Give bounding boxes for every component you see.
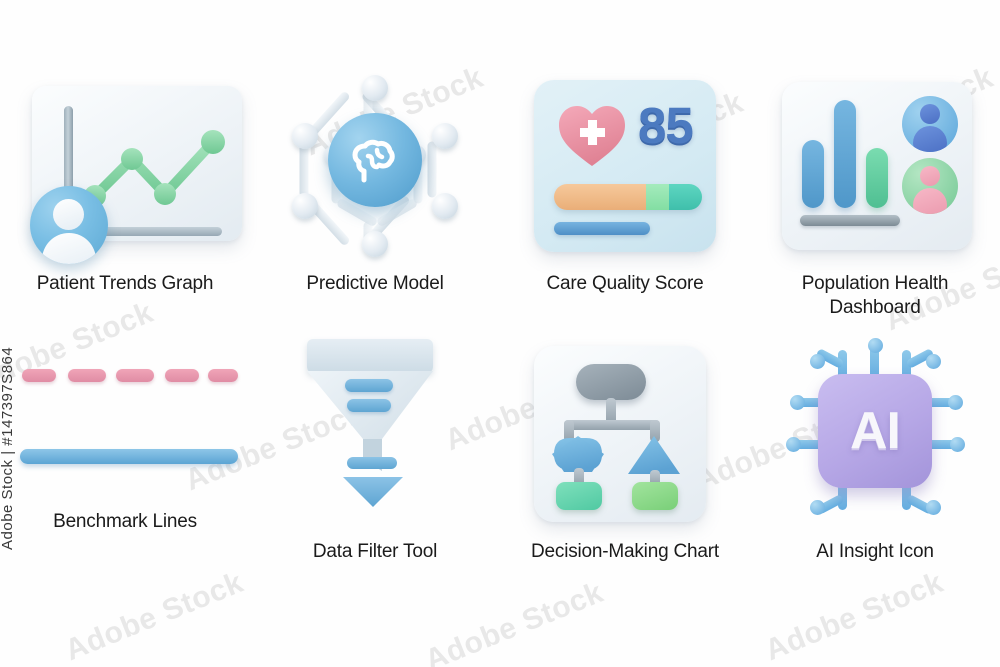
benchmark-lines-art — [20, 336, 230, 496]
chip-label: AI — [850, 405, 900, 457]
icon-card-patient-trends-graph[interactable]: Patient Trends Graph — [0, 66, 250, 336]
flow-leaf-left — [556, 482, 602, 510]
quality-progress-bar — [554, 184, 702, 210]
flow-leaf-right — [632, 482, 678, 510]
chip-pad-right-lower — [950, 437, 965, 452]
dash-segment — [165, 369, 199, 382]
icon-label: Care Quality Score — [547, 272, 704, 296]
icon-card-benchmark-lines[interactable]: Benchmark Lines — [0, 336, 250, 667]
brain-icon — [343, 128, 407, 192]
predictive-model-art — [270, 66, 480, 266]
score-value: 85 — [638, 100, 693, 151]
funnel-icon — [285, 331, 465, 531]
chip-pad-top-mid — [868, 338, 883, 353]
dash-segment — [208, 369, 238, 382]
avatar-blue-icon — [902, 96, 958, 152]
icon-label: Predictive Model — [306, 272, 443, 296]
graph-node-icon — [292, 123, 318, 149]
dash-segment — [116, 369, 154, 382]
graph-node-icon — [432, 193, 458, 219]
icon-label: Population Health Dashboard — [775, 272, 975, 320]
population-health-dashboard-art — [770, 66, 980, 266]
secondary-bar — [554, 222, 650, 235]
solid-benchmark-line — [20, 449, 238, 464]
ai-insight-art: AI — [770, 336, 980, 526]
graph-node-icon — [292, 193, 318, 219]
graph-node-icon — [362, 75, 388, 101]
icon-set-canvas: Adobe Stock Adobe Stock Adobe Stock Adob… — [0, 0, 1000, 667]
icon-card-decision-making-chart[interactable]: Decision-Making Chart — [500, 336, 750, 667]
chip-pad-left-lower — [786, 437, 801, 452]
ai-chip-icon: AI — [780, 336, 970, 526]
brain-sphere-icon — [328, 113, 422, 207]
progress-segment-1 — [554, 184, 646, 210]
icon-label: Decision-Making Chart — [531, 540, 719, 564]
icon-card-ai-insight-icon[interactable]: AI AI Insight Icon — [750, 336, 1000, 667]
network-hexagon-icon — [280, 71, 470, 261]
heart-plus-icon — [556, 102, 628, 168]
graph-node-icon — [432, 123, 458, 149]
chip-pad-top-right — [926, 354, 941, 369]
icon-card-care-quality-score[interactable]: 85 Care Quality Score — [500, 66, 750, 336]
chip-pad-left-upper — [790, 395, 805, 410]
avatar-green-icon — [902, 158, 958, 214]
filter-chip-2 — [347, 399, 391, 412]
funnel-body-icon — [285, 331, 465, 531]
icon-card-data-filter-tool[interactable]: Data Filter Tool — [250, 336, 500, 667]
icon-card-predictive-model[interactable]: Predictive Model — [250, 66, 500, 336]
decision-shapes-icon — [520, 336, 720, 536]
slider-rail[interactable] — [800, 215, 900, 226]
icon-grid: Patient Trends Graph — [0, 0, 1000, 667]
filter-chip-1 — [345, 379, 393, 392]
bar-1 — [802, 140, 824, 208]
benchmark-lines-icon — [20, 351, 230, 481]
patient-trends-graph-art — [20, 66, 230, 266]
icon-card-population-health-dashboard[interactable]: Population Health Dashboard — [750, 66, 1000, 336]
data-filter-tool-art — [270, 336, 480, 526]
chip-pad-top-left — [810, 354, 825, 369]
bar-2 — [834, 100, 856, 208]
icon-label: Data Filter Tool — [313, 540, 437, 564]
dash-segment — [68, 369, 106, 382]
chip-pad-right-upper — [948, 395, 963, 410]
dash-segment — [22, 369, 56, 382]
chip-body: AI — [818, 374, 932, 488]
care-quality-score-art: 85 — [520, 66, 730, 266]
icon-label: AI Insight Icon — [816, 540, 933, 564]
chip-pad-bottom-right — [926, 500, 941, 515]
bar-3 — [866, 148, 888, 208]
icon-label: Benchmark Lines — [53, 510, 197, 534]
progress-segment-2 — [646, 184, 670, 210]
patient-avatar-icon — [30, 186, 108, 264]
progress-segment-3 — [669, 184, 702, 210]
graph-node-icon — [362, 231, 388, 257]
chip-pad-bottom-left — [810, 500, 825, 515]
decision-making-chart-art — [520, 336, 730, 526]
